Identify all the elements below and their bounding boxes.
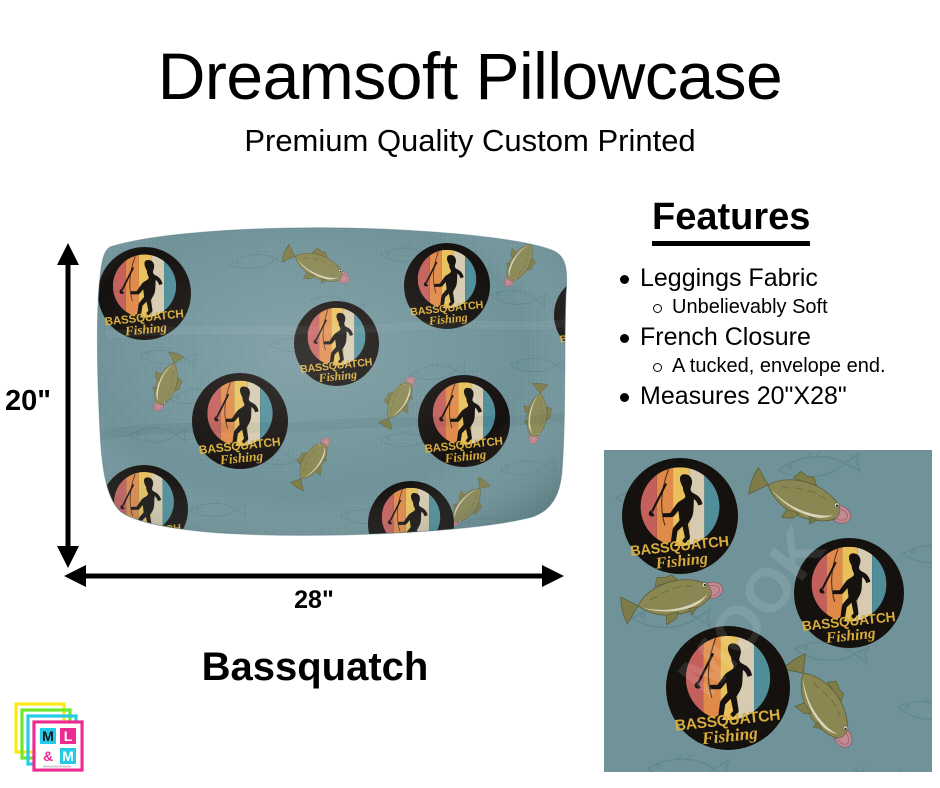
features-list: Leggings Fabric Unbelievably Soft French… bbox=[600, 262, 940, 412]
feature-item: Leggings Fabric Unbelievably Soft bbox=[600, 262, 940, 321]
feature-label: Leggings Fabric bbox=[600, 262, 940, 294]
fabric-closeup-image: MOOK bbox=[604, 450, 932, 772]
feature-label: French Closure bbox=[600, 321, 940, 353]
features-panel: Features Leggings Fabric Unbelievably So… bbox=[600, 196, 940, 412]
pillow-fabric-surface bbox=[80, 225, 580, 545]
height-dimension-label: 20" bbox=[4, 385, 52, 418]
height-dimension-arrow bbox=[52, 243, 84, 568]
pillow-product-image: BASSQUATCH Fishing bbox=[80, 225, 580, 545]
features-heading: Features bbox=[652, 196, 810, 246]
logo-letter-m2: M bbox=[62, 748, 74, 764]
feature-sublabel: Unbelievably Soft bbox=[600, 294, 940, 321]
logo-letter-l: L bbox=[64, 728, 73, 744]
feature-label: Measures 20"X28" bbox=[600, 380, 940, 412]
feature-item: Measures 20"X28" bbox=[600, 380, 940, 412]
logo-tagline bbox=[43, 766, 71, 768]
feature-sublabel: A tucked, envelope end. bbox=[600, 353, 940, 380]
page-title: Dreamsoft Pillowcase bbox=[0, 42, 940, 111]
brand-logo: M L & M bbox=[10, 700, 88, 778]
width-dimension-label: 28" bbox=[64, 586, 564, 615]
logo-letter-m1: M bbox=[42, 728, 54, 744]
logo-letter-amp: & bbox=[43, 748, 53, 764]
product-listing-page: Dreamsoft Pillowcase Premium Quality Cus… bbox=[0, 0, 940, 788]
pattern-name-label: Bassquatch bbox=[30, 645, 600, 690]
feature-item: French Closure A tucked, envelope end. bbox=[600, 321, 940, 380]
page-subtitle: Premium Quality Custom Printed bbox=[0, 124, 940, 158]
